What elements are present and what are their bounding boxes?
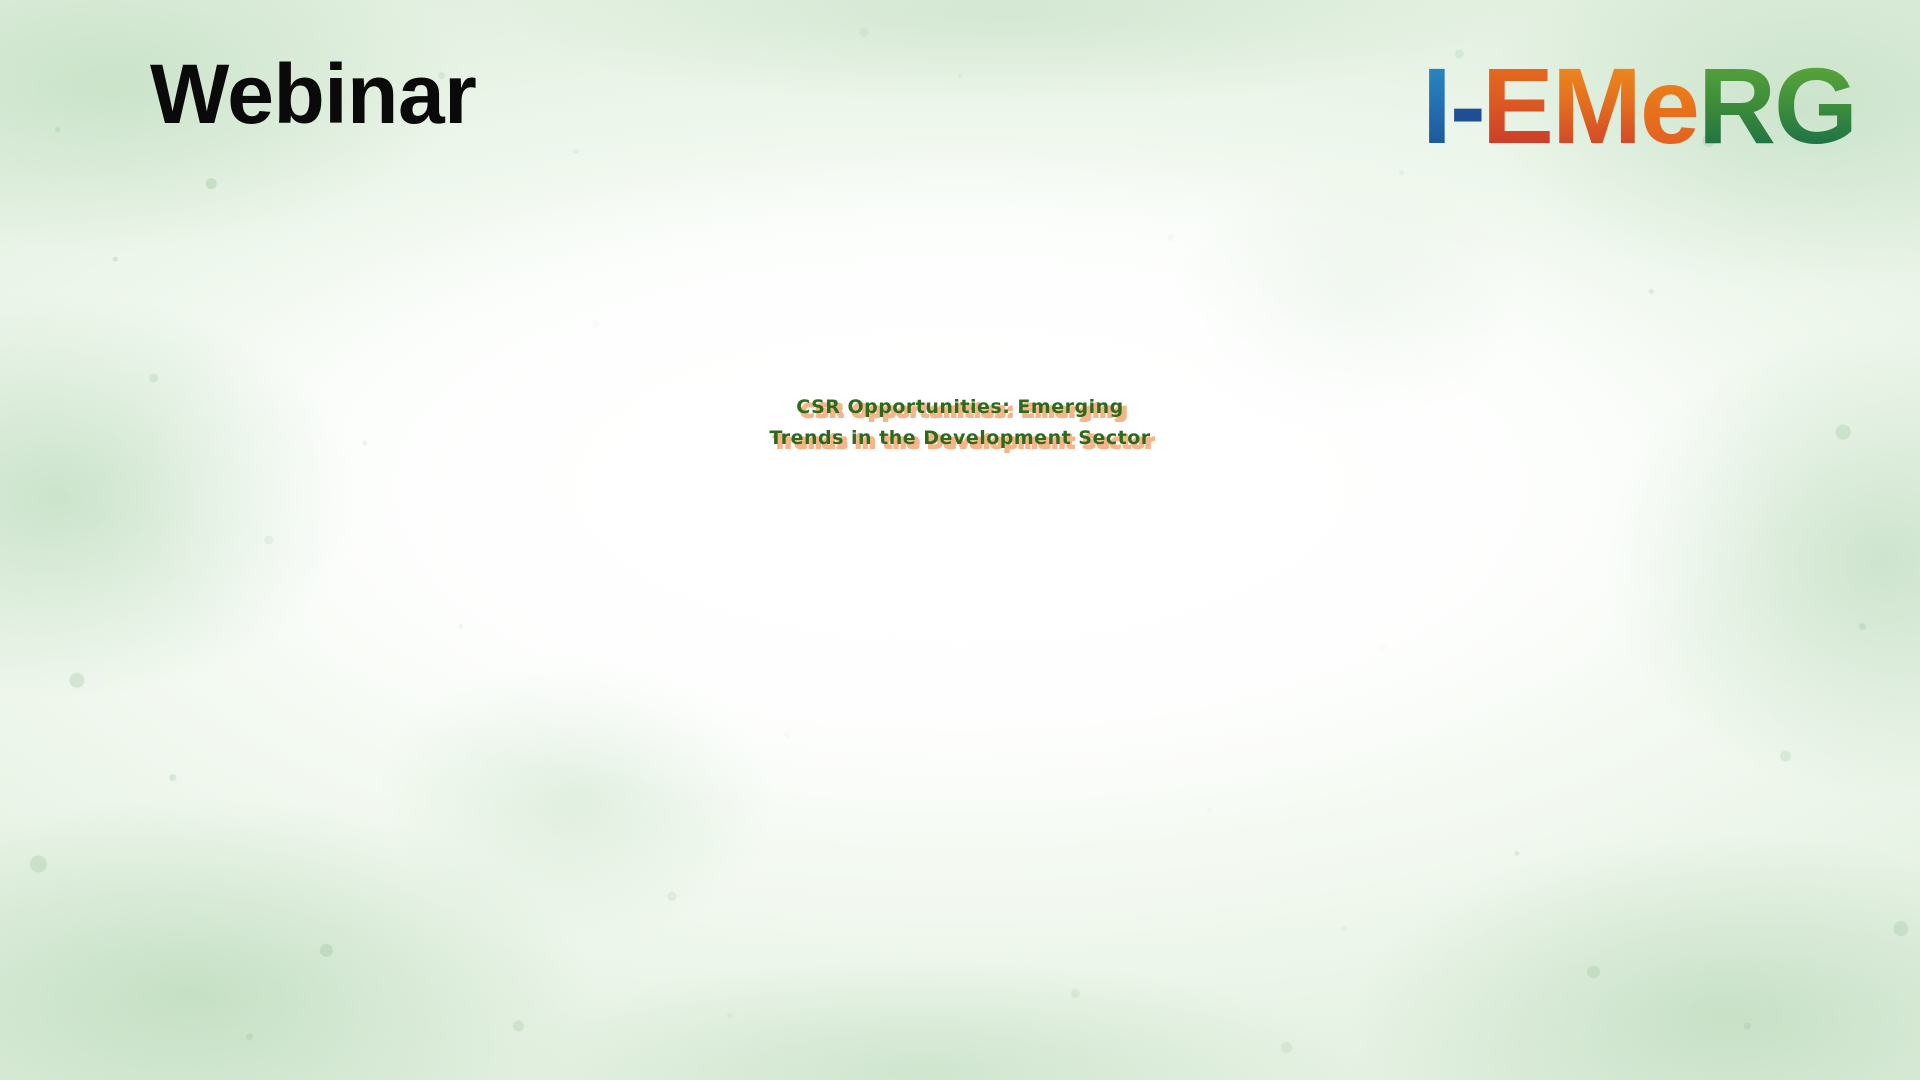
logo-letter-g: G (1774, 52, 1856, 160)
logo-letter-e: E (1482, 52, 1552, 160)
logo-letter-m: M (1552, 52, 1640, 160)
title-line-1: CSR Opportunities: Emerging (0, 395, 1920, 420)
logo-hyphen: - (1450, 52, 1482, 160)
webinar-title-slide: Webinar I - E M e R G CSR Opportunities:… (0, 0, 1920, 1080)
logo-letter-i: I (1422, 52, 1450, 160)
iemerg-logo: I - E M e R G (1422, 52, 1856, 160)
slide-header: Webinar I - E M e R G (0, 0, 1920, 190)
logo-letter-e-low: e (1640, 52, 1698, 160)
logo-letter-r: R (1698, 52, 1774, 160)
title-line-2: Trends in the Development Sector (0, 426, 1920, 451)
webinar-label: Webinar (150, 48, 476, 140)
slide-title: CSR Opportunities: Emerging Trends in th… (0, 395, 1920, 450)
